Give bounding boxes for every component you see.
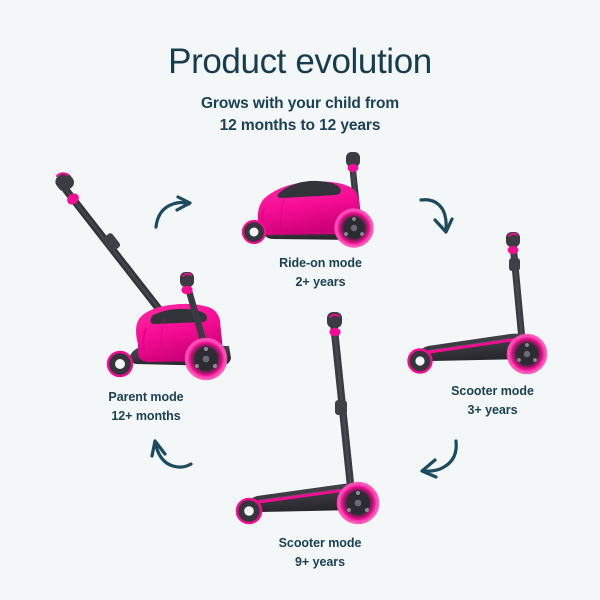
stage-scooter-mode-3[interactable]: Scooter mode 3+ years [400, 228, 585, 420]
stage-scooter-mode-3-caption: Scooter mode 3+ years [400, 382, 585, 420]
stage-scooter-mode-9-caption: Scooter mode 9+ years [225, 534, 415, 572]
parent-mode-front-wheel [186, 339, 226, 379]
stage-parent-mode-age: 12+ months [46, 407, 246, 426]
ride-on-rear-wheel [243, 221, 265, 243]
scooter-parent-mode-icon [46, 168, 246, 380]
parent-mode-rear-wheel [108, 352, 132, 376]
subtitle-line-1: Grows with your child from [0, 93, 600, 115]
product-evolution-infographic: Product evolution Grows with your child … [0, 0, 600, 600]
scooter9-front-wheel [338, 483, 378, 523]
arrow-rideon-to-scooter3-icon [418, 196, 458, 236]
scooter9-rear-wheel [237, 499, 261, 523]
scooter-mode-3-icon [400, 228, 585, 376]
scooter-ride-on-mode-icon [228, 160, 413, 248]
stage-ride-on-mode-caption: Ride-on mode 2+ years [228, 254, 413, 292]
stage-parent-mode-caption: Parent mode 12+ months [46, 388, 246, 426]
arrow-scooter9-to-parent-icon [150, 438, 192, 476]
stage-parent-mode-label: Parent mode [46, 388, 246, 407]
scooter3-stem [506, 232, 522, 340]
header: Product evolution Grows with your child … [0, 42, 600, 137]
scooter9-stem [327, 312, 351, 490]
stage-ride-on-mode[interactable]: Ride-on mode 2+ years [228, 160, 413, 292]
page-title: Product evolution [0, 42, 600, 81]
stage-scooter-mode-9-label: Scooter mode [225, 534, 415, 553]
stage-scooter-mode-9-age: 9+ years [225, 553, 415, 572]
arrow-scooter3-to-scooter9-icon [418, 438, 460, 476]
scooter-mode-9-icon [225, 300, 415, 528]
page-subtitle: Grows with your child from 12 months to … [0, 93, 600, 137]
ride-on-front-wheel [336, 210, 373, 247]
arrow-parent-to-rideon-icon [152, 196, 194, 232]
stage-scooter-mode-9[interactable]: Scooter mode 9+ years [225, 300, 415, 572]
stage-scooter-mode-3-label: Scooter mode [400, 382, 585, 401]
stage-scooter-mode-3-age: 3+ years [400, 401, 585, 420]
stage-ride-on-mode-age: 2+ years [228, 273, 413, 292]
stage-ride-on-mode-label: Ride-on mode [228, 254, 413, 273]
stage-parent-mode[interactable]: Parent mode 12+ months [46, 168, 246, 426]
subtitle-line-2: 12 months to 12 years [0, 115, 600, 137]
scooter3-front-wheel [508, 335, 546, 373]
